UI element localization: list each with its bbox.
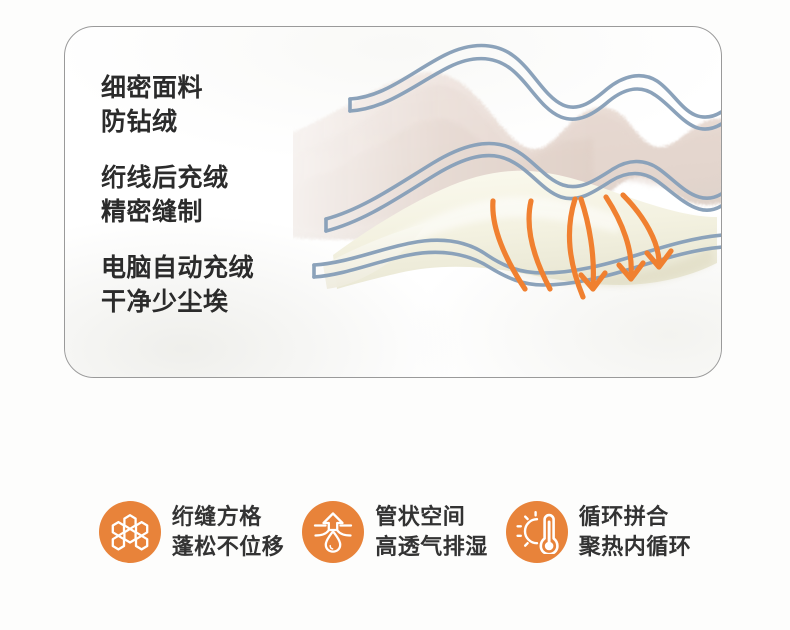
hero-feature-card: 细密面料 防钻绒 绗线后充绒 精密缝制 电脑自动充绒 干净少尘埃 — [64, 26, 722, 378]
feature-caption-line-2: 聚热内循环 — [579, 532, 692, 562]
feature-caption-line-1: 循环拼合 — [579, 502, 692, 532]
feature-caption-line-1: 绗缝方格 — [172, 502, 285, 532]
feature-line-2-2: 精密缝制 — [101, 195, 254, 229]
sun-thermometer-icon — [506, 501, 568, 563]
feature-caption-heat-circulation: 循环拼合 聚热内循环 — [579, 502, 692, 562]
feature-line-3-2: 干净少尘埃 — [101, 285, 254, 319]
feature-line-3-1: 电脑自动充绒 — [101, 251, 254, 285]
quilted-down-fabric-illustration — [293, 27, 722, 378]
feature-paragraph-3: 电脑自动充绒 干净少尘埃 — [101, 251, 254, 319]
feature-caption-line-2: 蓬松不位移 — [172, 532, 285, 562]
feature-line-1-1: 细密面料 — [101, 71, 254, 105]
feature-caption-breathable: 管状空间 高透气排湿 — [375, 502, 488, 562]
feature-strip: 绗缝方格 蓬松不位移 管状空间 — [0, 484, 790, 580]
honeycomb-icon — [99, 501, 161, 563]
feature-caption-line-1: 管状空间 — [375, 502, 488, 532]
feature-line-1-2: 防钻绒 — [101, 105, 254, 139]
feature-text-block: 细密面料 防钻绒 绗线后充绒 精密缝制 电脑自动充绒 干净少尘埃 — [101, 71, 254, 319]
airflow-droplet-icon — [302, 501, 364, 563]
feature-item-heat-circulation: 循环拼合 聚热内循环 — [506, 501, 692, 563]
feature-item-quilted-grid: 绗缝方格 蓬松不位移 — [99, 501, 285, 563]
feature-paragraph-1: 细密面料 防钻绒 — [101, 71, 254, 139]
feature-item-breathable: 管状空间 高透气排湿 — [302, 501, 488, 563]
feature-caption-quilted-grid: 绗缝方格 蓬松不位移 — [172, 502, 285, 562]
feature-line-2-1: 绗线后充绒 — [101, 161, 254, 195]
feature-caption-line-2: 高透气排湿 — [375, 532, 488, 562]
feature-paragraph-2: 绗线后充绒 精密缝制 — [101, 161, 254, 229]
